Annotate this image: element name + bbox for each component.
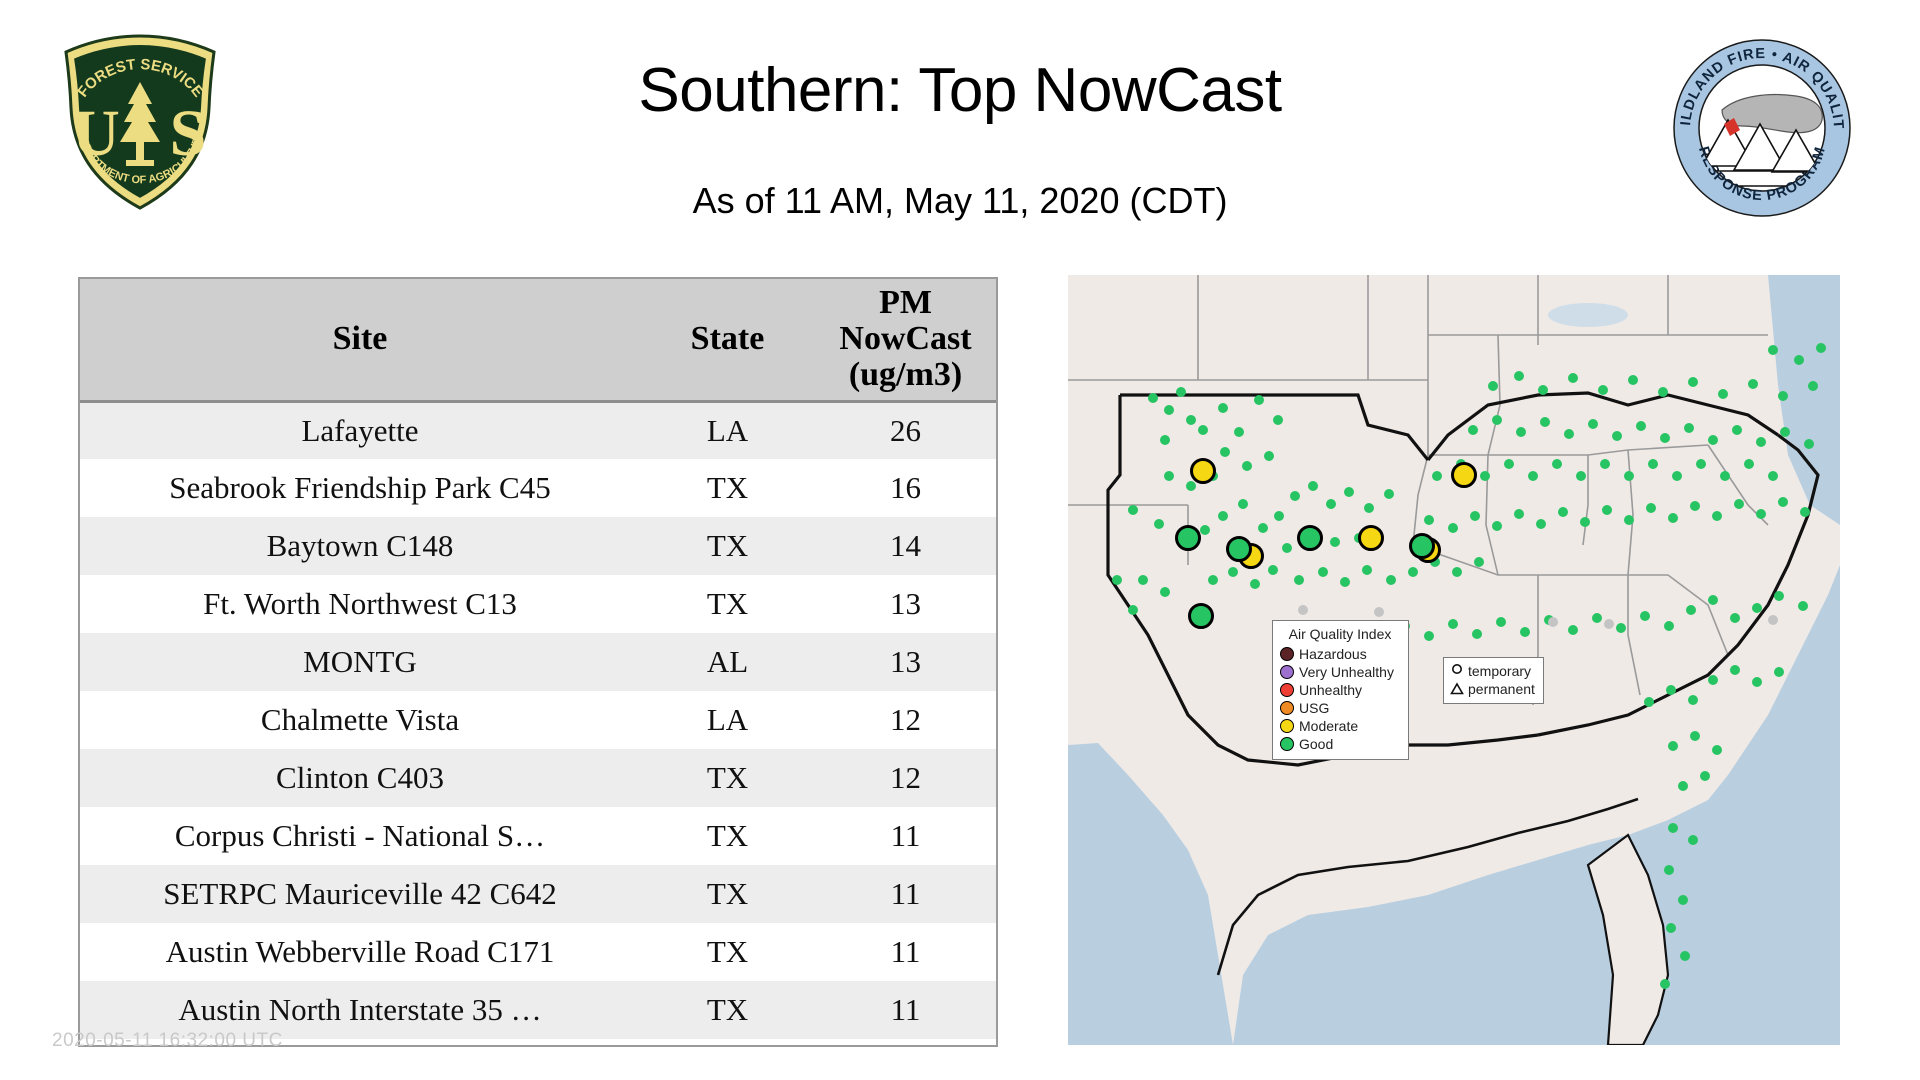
aqi-legend-label: Unhealthy	[1299, 682, 1362, 698]
map-monitor-dot-good	[1668, 741, 1678, 751]
map-monitor-dot-good	[1624, 471, 1634, 481]
pm-nowcast-cell: 11	[815, 865, 996, 923]
table-row[interactable]: Clinton C403TX12	[80, 749, 996, 807]
map-monitor-dot-good	[1514, 371, 1524, 381]
map-monitor-dot-good	[1268, 565, 1278, 575]
map-monitor-dot-good	[1218, 511, 1228, 521]
map-monitor-dot-good	[1732, 425, 1742, 435]
map-monitor-dot-good	[1432, 471, 1442, 481]
aqi-legend-row: Moderate	[1280, 717, 1400, 735]
state-cell: TX	[640, 807, 815, 865]
map-monitor-dot-good	[1242, 461, 1252, 471]
map-monitor-dot-good	[1672, 471, 1682, 481]
aqi-legend-label: Very Unhealthy	[1299, 664, 1394, 680]
map-monitor-dot-good	[1160, 435, 1170, 445]
map-monitor-dot-good	[1128, 605, 1138, 615]
map-monitor-dot-good	[1154, 519, 1164, 529]
map-monitor-dot-good	[1424, 515, 1434, 525]
map-monitor-dot-good	[1128, 505, 1138, 515]
map-monitor-dot-good	[1678, 895, 1688, 905]
table-row[interactable]: SETRPC Mauriceville 42 C642TX11	[80, 865, 996, 923]
map-monitor-dot-good	[1730, 665, 1740, 675]
site-cell: Ft. Worth Northwest C13	[80, 575, 640, 633]
map-monitor-dot-good	[1112, 575, 1122, 585]
map-monitor-dot-good	[1628, 375, 1638, 385]
state-cell: TX	[640, 981, 815, 1039]
map-monitor-dot-good	[1794, 355, 1804, 365]
map-monitor-dot-good	[1774, 667, 1784, 677]
map-monitor-dot-good	[1756, 437, 1766, 447]
map-monitor-dot-good	[1668, 823, 1678, 833]
map-monitor-dot-good	[1752, 603, 1762, 613]
site-cell: Corpus Christi - National S…	[80, 807, 640, 865]
map-monitor-dot-good	[1778, 391, 1788, 401]
map-monitor-dot-good	[1580, 517, 1590, 527]
map-monitor-dot-nodata	[1548, 617, 1558, 627]
map-monitor-dot-good	[1558, 507, 1568, 517]
map-monitor-dot-good	[1666, 685, 1676, 695]
pm-nowcast-cell: 13	[815, 575, 996, 633]
pm-nowcast-cell: 13	[815, 633, 996, 691]
map-monitor-dot-good	[1452, 567, 1462, 577]
map-monitor-dot-good	[1294, 575, 1304, 585]
map-monitor-dot-good	[1496, 617, 1506, 627]
map-monitor-dot-good	[1664, 865, 1674, 875]
map-monitor-dot-good	[1220, 447, 1230, 457]
aqi-legend-row: USG	[1280, 699, 1400, 717]
map-monitor-dot-good	[1282, 543, 1292, 553]
map-monitor-dot-good	[1668, 513, 1678, 523]
page-subtitle: As of 11 AM, May 11, 2020 (CDT)	[300, 180, 1620, 222]
column-header-pm-line3: (ug/m3)	[849, 356, 962, 393]
site-cell: SETRPC Mauriceville 42 C642	[80, 865, 640, 923]
map-highlighted-monitor-moderate[interactable]	[1451, 462, 1477, 488]
map-monitor-dot-good	[1752, 677, 1762, 687]
column-header-pm-nowcast[interactable]: PM NowCast (ug/m3)	[815, 279, 996, 401]
table-header-row: Site State PM NowCast (ug/m3)	[80, 279, 996, 401]
pm-nowcast-cell: 11	[815, 807, 996, 865]
map-monitor-dot-good	[1646, 503, 1656, 513]
state-cell: LA	[640, 401, 815, 459]
map-monitor-dot-good	[1538, 385, 1548, 395]
map-monitor-dot-good	[1804, 439, 1814, 449]
map-monitor-dot-good	[1176, 387, 1186, 397]
column-header-state-label: State	[691, 320, 765, 357]
map-monitor-dot-good	[1708, 435, 1718, 445]
map-monitor-dot-good	[1734, 499, 1744, 509]
map-monitor-dot-good	[1274, 511, 1284, 521]
legend-row-permanent: permanent	[1450, 680, 1535, 698]
map-monitor-dot-good	[1254, 395, 1264, 405]
map-monitor-dot-good	[1564, 429, 1574, 439]
map-monitor-dot-good	[1690, 501, 1700, 511]
state-cell: AL	[640, 633, 815, 691]
map-highlighted-monitor-moderate[interactable]	[1190, 458, 1216, 484]
map-monitor-dot-good	[1198, 425, 1208, 435]
map-monitor-dot-good	[1344, 487, 1354, 497]
map-monitor-dot-good	[1592, 613, 1602, 623]
map-monitor-dot-good	[1258, 523, 1268, 533]
map-highlighted-monitor-good[interactable]	[1188, 603, 1214, 629]
map-monitor-dot-good	[1568, 373, 1578, 383]
map-monitor-dot-good	[1318, 567, 1328, 577]
map-monitor-dot-good	[1730, 613, 1740, 623]
map-monitor-dot-good	[1712, 745, 1722, 755]
map-monitor-dot-good	[1238, 499, 1248, 509]
map-monitor-dot-good	[1800, 507, 1810, 517]
table-row[interactable]: Chalmette VistaLA12	[80, 691, 996, 749]
pm-nowcast-cell: 14	[815, 517, 996, 575]
map-monitor-dot-good	[1448, 619, 1458, 629]
map-monitor-dot-good	[1364, 503, 1374, 513]
map-monitor-dot-good	[1308, 481, 1318, 491]
map-monitor-dot-good	[1448, 523, 1458, 533]
legend-label-permanent: permanent	[1468, 681, 1535, 697]
map-monitor-dot-good	[1684, 423, 1694, 433]
map-monitor-dot-good	[1480, 471, 1490, 481]
map-monitor-dot-good	[1514, 509, 1524, 519]
site-cell: Lafayette	[80, 401, 640, 459]
map-monitor-dot-good	[1700, 771, 1710, 781]
map-monitor-dot-good	[1708, 675, 1718, 685]
table-row[interactable]: Corpus Christi - National S…TX11	[80, 807, 996, 865]
table-header: Site State PM NowCast (ug/m3)	[80, 279, 996, 401]
map-monitor-dot-good	[1164, 405, 1174, 415]
map-monitor-dot-good	[1778, 497, 1788, 507]
map-monitor-dot-good	[1616, 623, 1626, 633]
map-monitor-dot-good	[1688, 377, 1698, 387]
site-cell: MONTG	[80, 633, 640, 691]
map-monitor-dot-good	[1708, 595, 1718, 605]
aqi-legend-swatch-icon	[1280, 737, 1294, 751]
map-monitor-dot-good	[1816, 343, 1826, 353]
map-monitor-dot-good	[1138, 575, 1148, 585]
map-monitor-dot-good	[1712, 511, 1722, 521]
map-monitor-dot-good	[1186, 415, 1196, 425]
map-monitor-dot-good	[1612, 431, 1622, 441]
map-highlighted-monitor-good[interactable]	[1409, 533, 1435, 559]
pm-nowcast-cell: 12	[815, 749, 996, 807]
aqi-legend-title: Air Quality Index	[1280, 626, 1400, 642]
pm-nowcast-cell: 12	[815, 691, 996, 749]
map-monitor-dot-good	[1600, 459, 1610, 469]
map-monitor-dot-good	[1568, 625, 1578, 635]
map-monitor-dot-good	[1528, 471, 1538, 481]
site-cell: Clinton C403	[80, 749, 640, 807]
map-monitor-dot-good	[1666, 923, 1676, 933]
map-monitor-dot-good	[1644, 697, 1654, 707]
map-monitor-dot-good	[1386, 575, 1396, 585]
map-monitor-dot-good	[1408, 567, 1418, 577]
nowcast-table: Site State PM NowCast (ug/m3) LafayetteL…	[80, 279, 996, 1039]
map-highlighted-monitor-good[interactable]	[1297, 525, 1323, 551]
aqi-legend-swatch-icon	[1280, 683, 1294, 697]
usfs-forest-service-logo: FOREST SERVICE DEPARTMENT OF AGRICULTURE…	[48, 30, 233, 215]
map-monitor-dot-good	[1326, 499, 1336, 509]
map-monitor-dot-good	[1536, 519, 1546, 529]
map-monitor-dot-good	[1690, 731, 1700, 741]
map-highlighted-monitor-good[interactable]	[1175, 525, 1201, 551]
map-monitor-dot-good	[1688, 835, 1698, 845]
map-monitor-dot-good	[1624, 515, 1634, 525]
map-monitor-dot-good	[1748, 379, 1758, 389]
column-header-state[interactable]: State	[640, 279, 815, 401]
map-monitor-dot-good	[1488, 381, 1498, 391]
monitor-type-legend: temporary permanent	[1443, 657, 1544, 704]
state-cell: TX	[640, 749, 815, 807]
aqi-legend-label: Good	[1299, 736, 1333, 752]
svg-text:U: U	[72, 97, 120, 170]
aqi-legend: Air Quality Index HazardousVery Unhealth…	[1272, 620, 1409, 760]
nowcast-table-container: Site State PM NowCast (ug/m3) LafayetteL…	[78, 277, 998, 1047]
map-monitor-dot-good	[1234, 427, 1244, 437]
map-monitor-dot-good	[1744, 459, 1754, 469]
map-monitor-dot-good	[1160, 587, 1170, 597]
column-header-pm-line2: NowCast	[839, 320, 971, 357]
map-monitor-dot-good	[1330, 537, 1340, 547]
map-monitor-dot-good	[1273, 415, 1283, 425]
map-monitor-dot-good	[1780, 427, 1790, 437]
map-monitor-dot-good	[1200, 525, 1210, 535]
map-monitor-dot-good	[1492, 521, 1502, 531]
state-cell: TX	[640, 459, 815, 517]
map-monitor-dot-nodata	[1298, 605, 1308, 615]
pm-nowcast-cell: 26	[815, 401, 996, 459]
site-cell: Chalmette Vista	[80, 691, 640, 749]
table-row[interactable]: Baytown C148TX14	[80, 517, 996, 575]
map-monitor-dot-nodata	[1604, 619, 1614, 629]
map-highlighted-monitor-moderate[interactable]	[1358, 525, 1384, 551]
aqi-legend-row: Unhealthy	[1280, 681, 1400, 699]
site-cell: Austin Webberville Road C171	[80, 923, 640, 981]
permanent-triangle-icon	[1450, 682, 1464, 696]
state-cell: TX	[640, 575, 815, 633]
map-monitor-dot-good	[1696, 459, 1706, 469]
map-monitor-dot-good	[1362, 565, 1372, 575]
map-monitor-dot-good	[1290, 491, 1300, 501]
aqi-legend-label: Hazardous	[1299, 646, 1367, 662]
temporary-circle-icon	[1450, 664, 1464, 678]
table-row[interactable]: Seabrook Friendship Park C45TX16	[80, 459, 996, 517]
map-monitor-dot-good	[1504, 459, 1514, 469]
aqi-legend-row: Very Unhealthy	[1280, 663, 1400, 681]
map-monitor-dot-good	[1520, 627, 1530, 637]
air-quality-map[interactable]: Air Quality Index HazardousVery Unhealth…	[1068, 275, 1840, 1045]
column-header-site[interactable]: Site	[80, 279, 640, 401]
map-monitor-dot-good	[1164, 471, 1174, 481]
map-monitor-dot-nodata	[1374, 607, 1384, 617]
table-row[interactable]: Austin Webberville Road C171TX11	[80, 923, 996, 981]
svg-text:S: S	[170, 97, 207, 170]
aqi-legend-row: Hazardous	[1280, 645, 1400, 663]
column-header-site-label: Site	[333, 320, 388, 357]
map-monitor-dot-good	[1576, 471, 1586, 481]
aqi-legend-swatch-icon	[1280, 701, 1294, 715]
map-monitor-dot-good	[1340, 577, 1350, 587]
pm-nowcast-cell: 11	[815, 981, 996, 1039]
map-monitor-dot-good	[1768, 345, 1778, 355]
state-cell: LA	[640, 691, 815, 749]
aqi-legend-swatch-icon	[1280, 647, 1294, 661]
page-title: Southern: Top NowCast	[300, 55, 1620, 126]
pm-nowcast-cell: 16	[815, 459, 996, 517]
site-cell: Seabrook Friendship Park C45	[80, 459, 640, 517]
column-header-pm-line1: PM	[879, 284, 932, 321]
map-monitor-dot-good	[1250, 579, 1260, 589]
aqi-legend-label: Moderate	[1299, 718, 1358, 734]
map-monitor-dot-good	[1148, 393, 1158, 403]
map-monitor-dot-good	[1424, 631, 1434, 641]
map-monitor-dot-good	[1516, 427, 1526, 437]
map-monitor-dot-good	[1808, 381, 1818, 391]
map-monitor-dot-good	[1640, 611, 1650, 621]
map-monitor-dot-good	[1660, 979, 1670, 989]
footer-timestamp: 2020-05-11 16:32:00 UTC	[52, 1030, 283, 1052]
map-monitor-dot-good	[1468, 425, 1478, 435]
map-monitor-dot-good	[1540, 417, 1550, 427]
aqi-legend-swatch-icon	[1280, 665, 1294, 679]
map-monitor-dot-good	[1186, 481, 1196, 491]
map-monitor-dot-good	[1680, 951, 1690, 961]
map-monitor-dot-good	[1678, 781, 1688, 791]
map-monitor-dot-good	[1218, 403, 1228, 413]
map-monitor-dot-good	[1660, 433, 1670, 443]
table-body: LafayetteLA26Seabrook Friendship Park C4…	[80, 401, 996, 1039]
map-monitor-dot-good	[1756, 509, 1766, 519]
pm-nowcast-cell: 11	[815, 923, 996, 981]
map-monitor-dot-good	[1686, 605, 1696, 615]
map-monitor-dot-good	[1228, 567, 1238, 577]
map-monitor-dot-good	[1768, 471, 1778, 481]
table-row[interactable]: MONTGAL13	[80, 633, 996, 691]
map-monitor-dot-good	[1720, 471, 1730, 481]
table-row[interactable]: LafayetteLA26	[80, 401, 996, 459]
map-monitor-dot-good	[1774, 591, 1784, 601]
table-row[interactable]: Ft. Worth Northwest C13TX13	[80, 575, 996, 633]
map-monitor-dot-good	[1664, 621, 1674, 631]
map-monitor-dot-good	[1602, 505, 1612, 515]
map-monitor-dot-good	[1588, 419, 1598, 429]
state-cell: TX	[640, 865, 815, 923]
map-monitor-dot-good	[1648, 459, 1658, 469]
map-monitor-dot-good	[1474, 557, 1484, 567]
map-monitor-dot-good	[1798, 601, 1808, 611]
map-highlighted-monitor-good[interactable]	[1226, 536, 1252, 562]
map-monitor-dot-good	[1688, 695, 1698, 705]
map-monitor-dot-good	[1598, 385, 1608, 395]
wildland-fire-air-quality-response-program-logo: WILDLAND FIRE • AIR QUALITY RESPONSE PRO…	[1672, 38, 1852, 218]
map-monitor-dot-good	[1472, 629, 1482, 639]
aqi-legend-row: Good	[1280, 735, 1400, 753]
map-monitor-dot-good	[1264, 451, 1274, 461]
map-monitor-dot-good	[1492, 415, 1502, 425]
state-cell: TX	[640, 923, 815, 981]
map-monitor-dot-good	[1470, 511, 1480, 521]
site-cell: Baytown C148	[80, 517, 640, 575]
state-cell: TX	[640, 517, 815, 575]
map-monitor-dot-good	[1552, 459, 1562, 469]
map-monitor-dot-nodata	[1768, 615, 1778, 625]
legend-row-temporary: temporary	[1450, 662, 1535, 680]
aqi-legend-swatch-icon	[1280, 719, 1294, 733]
map-monitor-dot-good	[1636, 421, 1646, 431]
aqi-legend-label: USG	[1299, 700, 1329, 716]
map-monitor-dot-good	[1384, 489, 1394, 499]
legend-label-temporary: temporary	[1468, 663, 1531, 679]
map-monitor-dot-good	[1718, 389, 1728, 399]
slide-root: FOREST SERVICE DEPARTMENT OF AGRICULTURE…	[0, 0, 1920, 1080]
map-monitor-dot-good	[1658, 387, 1668, 397]
map-monitor-dot-good	[1208, 575, 1218, 585]
